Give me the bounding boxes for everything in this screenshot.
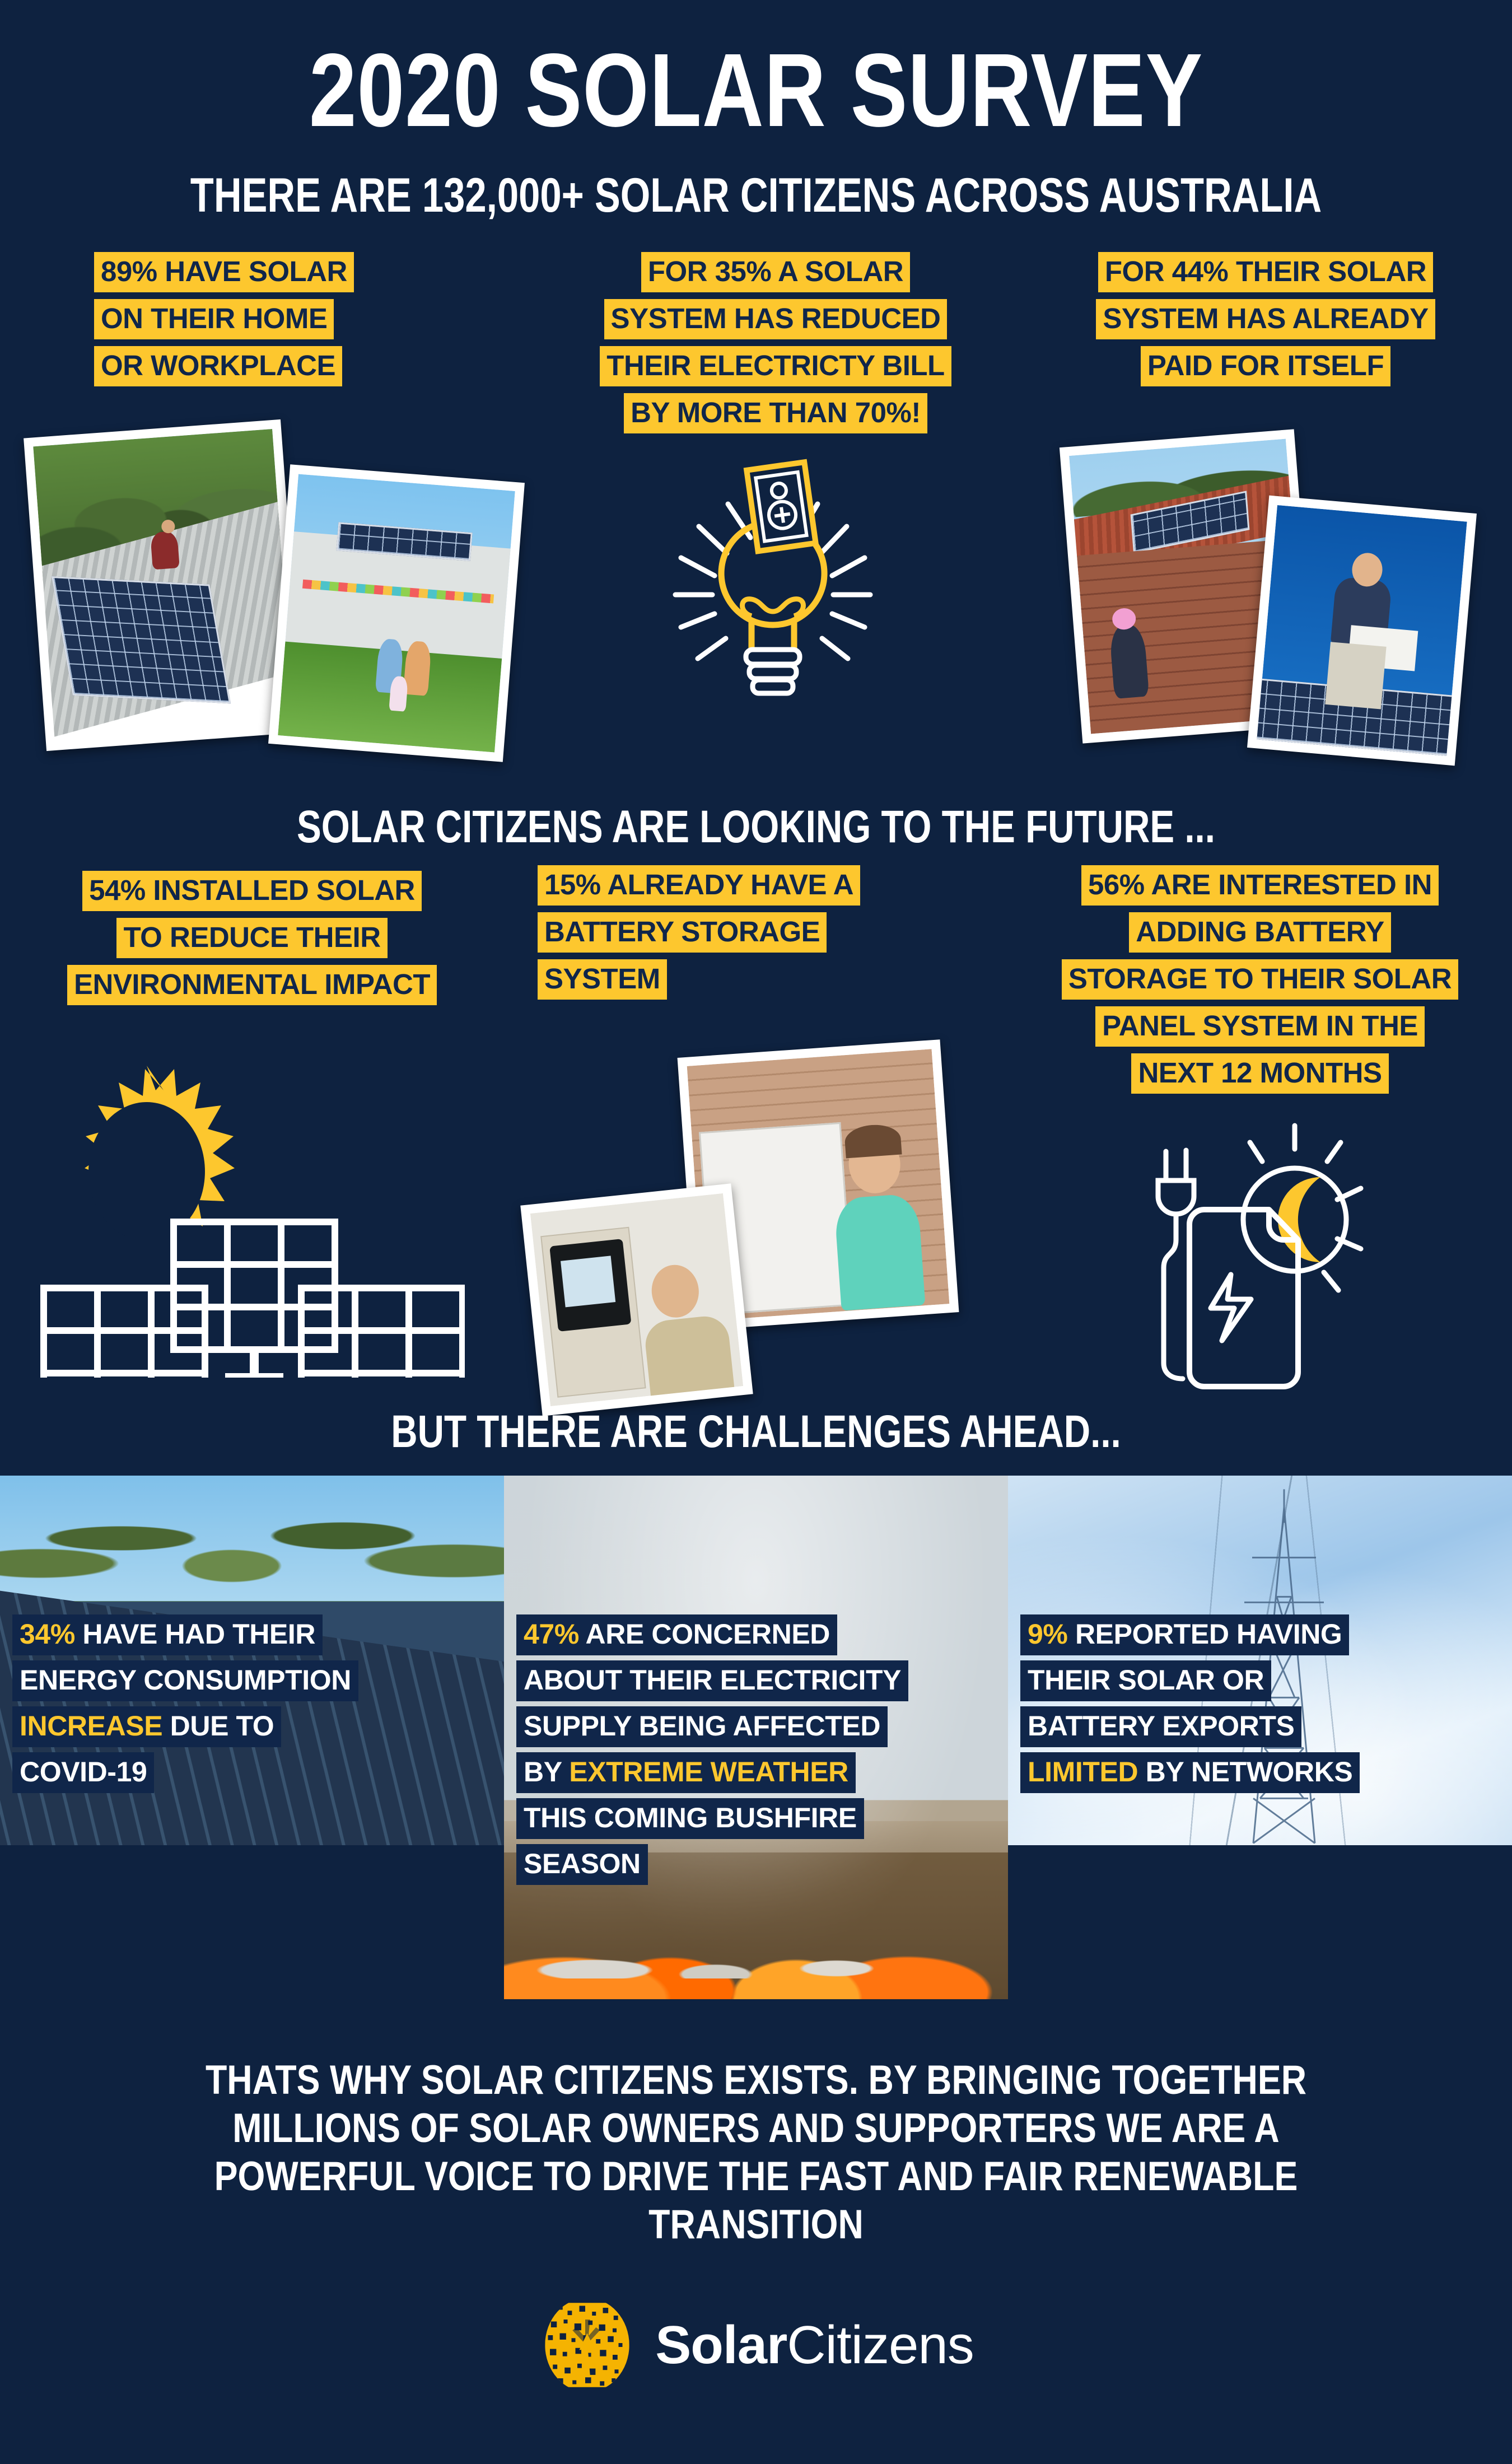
challenge-line: SEASON [516, 1844, 648, 1885]
stat-block-15: 15% ALREADY HAVE A BATTERY STORAGE SYSTE… [538, 865, 980, 1006]
section-heading-challenges: BUT THERE ARE CHALLENGES AHEAD... [151, 1406, 1361, 1458]
photo-image [33, 429, 294, 741]
photo-solar-panel [52, 576, 231, 704]
photo-image [530, 1193, 743, 1406]
stat-line: BATTERY STORAGE [538, 912, 827, 953]
challenges-photo-band: 34% HAVE HAD THEIR ENERGY CONSUMPTION IN… [0, 1476, 1512, 1999]
challenge-panel-bushfire: 47% ARE CONCERNED ABOUT THEIR ELECTRICIT… [504, 1476, 1008, 1999]
challenge-text: REPORTED HAVING [1067, 1618, 1342, 1650]
solar-citizens-mosaic-circle-icon [538, 2296, 636, 2394]
stat-line: NEXT 12 MONTHS [1131, 1053, 1388, 1094]
stat-line: 15% ALREADY HAVE A [538, 865, 860, 906]
challenge-line: 47% ARE CONCERNED [516, 1614, 837, 1655]
stat-line: TO REDUCE THEIR [116, 918, 387, 958]
challenge-text: ARE CONCERNED [579, 1618, 830, 1650]
stat-line: SYSTEM HAS ALREADY [1096, 299, 1435, 339]
challenge-text-bushfire: 47% ARE CONCERNED ABOUT THEIR ELECTRICIT… [516, 1614, 996, 1890]
stat-block-54: 54% INSTALLED SOLAR TO REDUCE THEIR ENVI… [11, 871, 493, 1012]
battery-plug-sun-icon [1098, 1114, 1389, 1394]
photo-man-with-sign [1247, 496, 1477, 766]
stat-line: FOR 44% THEIR SOLAR [1098, 252, 1433, 292]
photo-person-shorts [1325, 642, 1386, 709]
photo-rocks [504, 1894, 1008, 1978]
stat-line: SYSTEM [538, 959, 667, 1000]
logo-word-solar: Solar [655, 2315, 787, 2375]
challenge-line: COVID-19 [12, 1752, 154, 1793]
logo-wordmark: SolarCitizens [655, 2314, 974, 2376]
challenge-text: DUE TO [162, 1710, 274, 1742]
challenge-line: INCREASE DUE TO [12, 1706, 281, 1747]
stat-block-89: 89% HAVE SOLAR ON THEIR HOME OR WORKPLAC… [94, 252, 508, 393]
page-subtitle: THERE ARE 132,000+ SOLAR CITIZENS ACROSS… [151, 168, 1361, 223]
photo-image [1257, 505, 1467, 756]
stat-line: OR WORKPLACE [94, 346, 342, 386]
sun-glyph [85, 1066, 235, 1241]
photo-image [278, 474, 515, 753]
challenge-line: THEIR SOLAR OR [1020, 1660, 1271, 1701]
section-heading-future: SOLAR CITIZENS ARE LOOKING TO THE FUTURE… [151, 801, 1361, 853]
stat-line: FOR 35% A SOLAR [641, 252, 910, 292]
photo-rooftop-installer [24, 419, 304, 751]
stat-block-44: FOR 44% THEIR SOLAR SYSTEM HAS ALREADY P… [1053, 252, 1478, 393]
challenge-panel-network: 9% REPORTED HAVING THEIR SOLAR OR BATTER… [1008, 1476, 1512, 1845]
solar-citizens-logo: SolarCitizens [0, 2296, 1512, 2394]
challenge-line: 34% HAVE HAD THEIR [12, 1614, 323, 1655]
challenge-line: THIS COMING BUSHFIRE [516, 1798, 864, 1839]
stat-line: SYSTEM HAS REDUCED [604, 299, 948, 339]
challenge-line: ABOUT THEIR ELECTRICITY [516, 1660, 908, 1701]
challenge-text: HAVE HAD THEIR [75, 1618, 315, 1650]
stat-line: THEIR ELECTRICTY BILL [600, 346, 951, 386]
challenge-percent: 9% [1028, 1618, 1067, 1650]
photo-battery-installer-man [520, 1183, 753, 1416]
challenge-panel-covid: 34% HAVE HAD THEIR ENERGY CONSUMPTION IN… [0, 1476, 504, 1845]
challenge-text-covid: 34% HAVE HAD THEIR ENERGY CONSUMPTION IN… [12, 1614, 492, 1798]
logo-word-citizens: Citizens [787, 2315, 973, 2375]
stat-line: ENVIRONMENTAL IMPACT [67, 965, 437, 1005]
challenge-line: 9% REPORTED HAVING [1020, 1614, 1349, 1655]
photo-person [150, 531, 180, 570]
challenge-text: BY [524, 1756, 569, 1788]
photo-inverter-display [561, 1256, 615, 1307]
photo-person [643, 1314, 735, 1406]
page-title: 2020 SOLAR SURVEY [136, 31, 1376, 150]
stat-line: 56% ARE INTERESTED IN [1081, 865, 1439, 906]
challenge-text-network: 9% REPORTED HAVING THEIR SOLAR OR BATTER… [1020, 1614, 1500, 1798]
challenge-line: LIMITED BY NETWORKS [1020, 1752, 1360, 1793]
challenge-text: BY NETWORKS [1138, 1756, 1352, 1788]
stat-line: PAID FOR ITSELF [1141, 346, 1390, 386]
challenge-emphasis: LIMITED [1028, 1756, 1138, 1788]
stat-block-56: 56% ARE INTERESTED IN ADDING BATTERY STO… [1019, 865, 1501, 1100]
stat-line: ADDING BATTERY [1129, 912, 1390, 953]
photo-gum-trees [0, 1476, 504, 1601]
challenge-emphasis: EXTREME WEATHER [569, 1756, 848, 1788]
challenge-percent: 47% [524, 1618, 579, 1650]
stat-line: 89% HAVE SOLAR [94, 252, 354, 292]
solar-panel-group [44, 1222, 463, 1378]
stat-line: BY MORE THAN 70%! [624, 393, 927, 433]
stat-block-35: FOR 35% A SOLAR SYSTEM HAS REDUCED THEIR… [563, 252, 988, 440]
challenge-line: ENERGY CONSUMPTION [12, 1660, 358, 1701]
challenge-emphasis: INCREASE [20, 1710, 162, 1742]
stat-line: PANEL SYSTEM IN THE [1095, 1006, 1425, 1047]
lightbulb-money-icon [661, 448, 885, 711]
sun-solar-panels-icon [22, 1042, 465, 1378]
challenge-line: BATTERY EXPORTS [1020, 1706, 1301, 1747]
stat-line: STORAGE TO THEIR SOLAR [1062, 959, 1458, 1000]
challenge-percent: 34% [20, 1618, 75, 1650]
challenge-line: SUPPLY BEING AFFECTED [516, 1706, 888, 1747]
photo-family-home [268, 464, 525, 762]
challenge-line: BY EXTREME WEATHER [516, 1752, 856, 1793]
stat-line: 54% INSTALLED SOLAR [82, 871, 422, 911]
footer-statement: THATS WHY SOLAR CITIZENS EXISTS. BY BRIN… [161, 2056, 1351, 2250]
stat-line: ON THEIR HOME [94, 299, 334, 339]
photo-person [834, 1193, 926, 1311]
